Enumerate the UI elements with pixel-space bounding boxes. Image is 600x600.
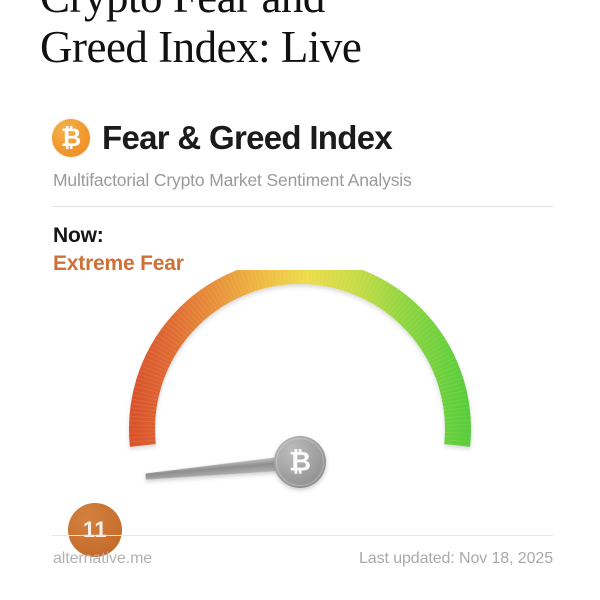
fear-greed-widget: ₿ Fear & Greed Index Multifactorial Cryp…: [0, 92, 600, 592]
bitcoin-icon: ₿: [52, 119, 90, 157]
gauge-tick-texture: [142, 271, 458, 445]
footer-source[interactable]: alternative.me: [53, 550, 152, 568]
header-divider: [52, 206, 553, 207]
footer-last-updated: Last updated: Nov 18, 2025: [359, 550, 553, 568]
widget-title: Fear & Greed Index: [102, 119, 392, 157]
bitcoin-glyph: ₿: [61, 125, 81, 150]
page-title-line-1: Crypto Fear and: [40, 0, 560, 22]
gauge-svg: ₿: [100, 270, 500, 530]
widget-subtitle: Multifactorial Crypto Market Sentiment A…: [53, 170, 412, 191]
status-now-label: Now:: [53, 224, 104, 248]
gauge-arc-group: [142, 271, 458, 445]
page-title: Crypto Fear and Greed Index: Live: [40, 0, 560, 72]
gauge-value-text: 11: [83, 517, 107, 543]
gauge-hub-group: ₿: [274, 436, 326, 488]
gauge-arc: [142, 271, 458, 445]
footer-divider: [52, 535, 553, 536]
fear-greed-gauge: ₿: [100, 270, 500, 530]
gauge-value-badge: 11: [68, 503, 122, 557]
gauge-hub-bitcoin-icon: ₿: [289, 447, 311, 478]
widget-header: ₿ Fear & Greed Index: [52, 119, 392, 157]
page-title-line-2: Greed Index: Live: [40, 22, 560, 72]
